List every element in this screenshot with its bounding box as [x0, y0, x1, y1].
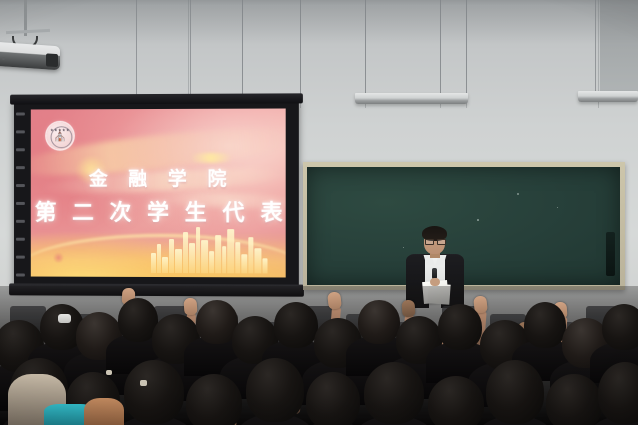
skyline-building	[235, 242, 240, 273]
audience-head	[598, 362, 638, 424]
screen-notch	[16, 112, 25, 115]
audience-head	[246, 358, 304, 422]
lamp-wire	[595, 0, 596, 91]
skyline-building	[169, 239, 174, 273]
skyline-building	[241, 254, 247, 273]
blackboard-bracket	[606, 232, 615, 276]
projector-led-icon	[2, 57, 5, 60]
screen-notch	[16, 238, 25, 241]
hair-clip-icon	[106, 370, 112, 375]
lamp-wire	[440, 0, 441, 93]
audience-head	[306, 372, 360, 425]
hair-clip-icon	[140, 380, 147, 386]
chalk-speck	[517, 193, 519, 195]
audience-head	[358, 300, 400, 344]
skyline-building	[157, 244, 161, 273]
audience-head	[428, 376, 484, 425]
skyline-building	[151, 253, 156, 273]
raised-hand	[183, 298, 197, 316]
presenter-hand	[430, 278, 440, 286]
screen-notch	[16, 148, 25, 151]
screen-notch	[16, 202, 25, 205]
audience-head	[438, 304, 482, 350]
skyline-building	[162, 257, 168, 273]
emblem-glyph: ⛪	[47, 130, 74, 141]
skyline-building	[262, 258, 267, 273]
slide-glow-accent	[182, 153, 240, 163]
ceiling-lamp-2	[355, 93, 468, 104]
skyline-building	[196, 227, 200, 273]
screen-notch	[16, 273, 25, 276]
audience-head	[602, 304, 638, 350]
raised-hand	[327, 291, 342, 309]
orange-scarf	[84, 398, 124, 425]
audience-head	[186, 374, 242, 425]
skyline-building	[254, 248, 261, 273]
chalk-speck	[477, 219, 479, 221]
screen-notch	[16, 130, 25, 133]
slide-corner-mark	[53, 253, 65, 263]
skyline-building	[222, 246, 226, 273]
slide-title-line1: 金 融 学 院	[31, 164, 286, 191]
wall-seam	[188, 0, 189, 108]
audience-head	[486, 360, 544, 424]
lamp-wire	[365, 0, 366, 93]
screen-notch	[16, 166, 25, 169]
audience-head	[274, 302, 318, 348]
audience-head	[364, 362, 424, 424]
wall-panel-right	[600, 0, 638, 96]
audience-head	[124, 360, 184, 424]
screen-notch	[16, 256, 25, 259]
chalk-speck	[557, 207, 558, 208]
ceiling-projector	[0, 42, 60, 71]
skyline-building	[201, 240, 208, 273]
raised-hand	[401, 300, 415, 318]
skyline-building	[248, 237, 253, 273]
lamp-wire	[242, 0, 243, 96]
lamp-wire	[190, 0, 191, 95]
ceiling-lamp-3	[578, 91, 638, 102]
skyline-building	[189, 243, 195, 273]
glasses-icon	[425, 239, 444, 243]
projection-screen[interactable]: ★★★★★ ⛪ 金 融 学 院 第 二 次 学 生 代 表 大 会	[14, 97, 299, 290]
audience-head	[546, 374, 602, 425]
skyline-building	[227, 229, 234, 273]
university-emblem-icon: ★★★★★ ⛪	[47, 122, 74, 149]
lamp-wire	[300, 0, 301, 94]
presentation-slide: ★★★★★ ⛪ 金 融 学 院 第 二 次 学 生 代 表 大 会	[31, 108, 286, 277]
skyline-building	[215, 235, 221, 273]
classroom-scene: ★★★★★ ⛪ 金 融 学 院 第 二 次 学 生 代 表 大 会	[0, 0, 638, 425]
lamp-wire	[466, 0, 467, 93]
lamp-wire	[136, 0, 137, 96]
ceiling-shadow	[0, 0, 638, 44]
skyline-building	[209, 251, 214, 273]
screen-edge-notches	[16, 105, 25, 284]
audience-area	[0, 286, 638, 425]
screen-notch	[16, 184, 25, 187]
skyline-building	[175, 249, 182, 273]
audience-head	[524, 302, 566, 348]
screen-notch	[16, 220, 25, 223]
slide-city-skyline	[151, 219, 272, 273]
face-mask-icon	[58, 314, 71, 323]
skyline-building	[183, 232, 188, 273]
